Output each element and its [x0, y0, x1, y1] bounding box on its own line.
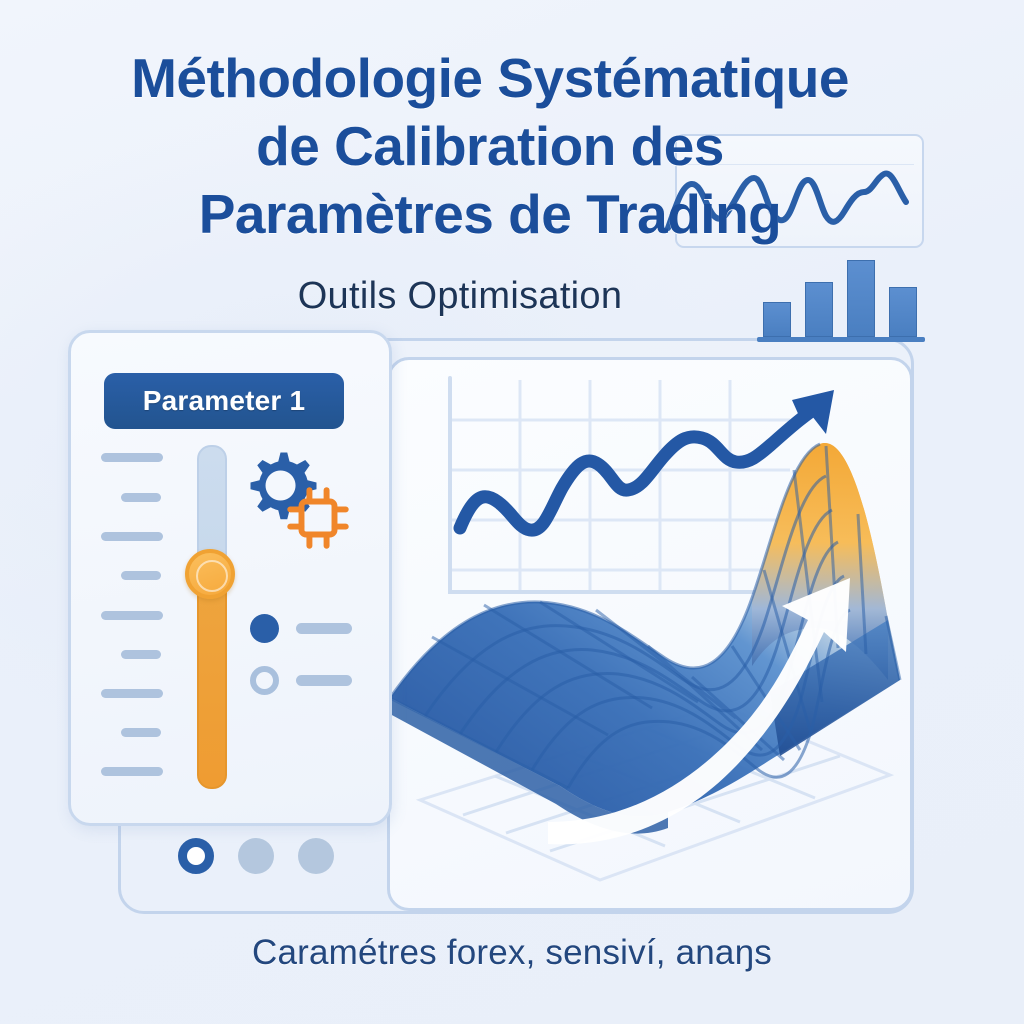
parameter-panel: Parameter 1: [68, 330, 392, 826]
tick-mark: [101, 453, 163, 462]
tick-mark: [101, 767, 163, 776]
pagination-dot-active[interactable]: [178, 838, 214, 874]
tick-mark: [121, 728, 161, 737]
tick-mark: [121, 493, 161, 502]
option-row-unselected[interactable]: [250, 664, 360, 698]
title-line-2: de Calibration des: [60, 112, 920, 180]
option-label-placeholder: [296, 623, 352, 634]
option-row-selected[interactable]: [250, 612, 360, 646]
page-subtitle: Outils Optimisation: [60, 273, 860, 319]
parameter-badge[interactable]: Parameter 1: [104, 373, 344, 429]
radio-unselected-icon[interactable]: [250, 666, 279, 695]
footer-caption: Caramétres forex, sensiví, anaŋs: [62, 933, 962, 973]
bar-baseline: [757, 337, 925, 342]
slider-knob-inner: [196, 560, 228, 592]
radio-selected-icon[interactable]: [250, 614, 279, 643]
page-title: Méthodologie Systématique de Calibration…: [60, 44, 920, 248]
3d-optimization-surface: [380, 430, 925, 860]
tick-mark: [121, 571, 161, 580]
chip-icon[interactable]: [285, 485, 351, 551]
title-line-1: Méthodologie Systématique: [60, 44, 920, 112]
slider-knob[interactable]: [185, 549, 235, 599]
slider-scale: [101, 453, 181, 778]
tick-mark: [101, 689, 163, 698]
option-label-placeholder: [296, 675, 352, 686]
title-line-3: Paramètres de Trading: [60, 180, 920, 248]
bar-4: [889, 287, 917, 337]
tick-mark: [101, 611, 163, 620]
parameter-slider[interactable]: [185, 445, 235, 785]
poster-canvas: Méthodologie Systématique de Calibration…: [0, 0, 1024, 1024]
pagination-dot[interactable]: [298, 838, 334, 874]
pagination-dot[interactable]: [238, 838, 274, 874]
tick-mark: [101, 532, 163, 541]
tick-mark: [121, 650, 161, 659]
